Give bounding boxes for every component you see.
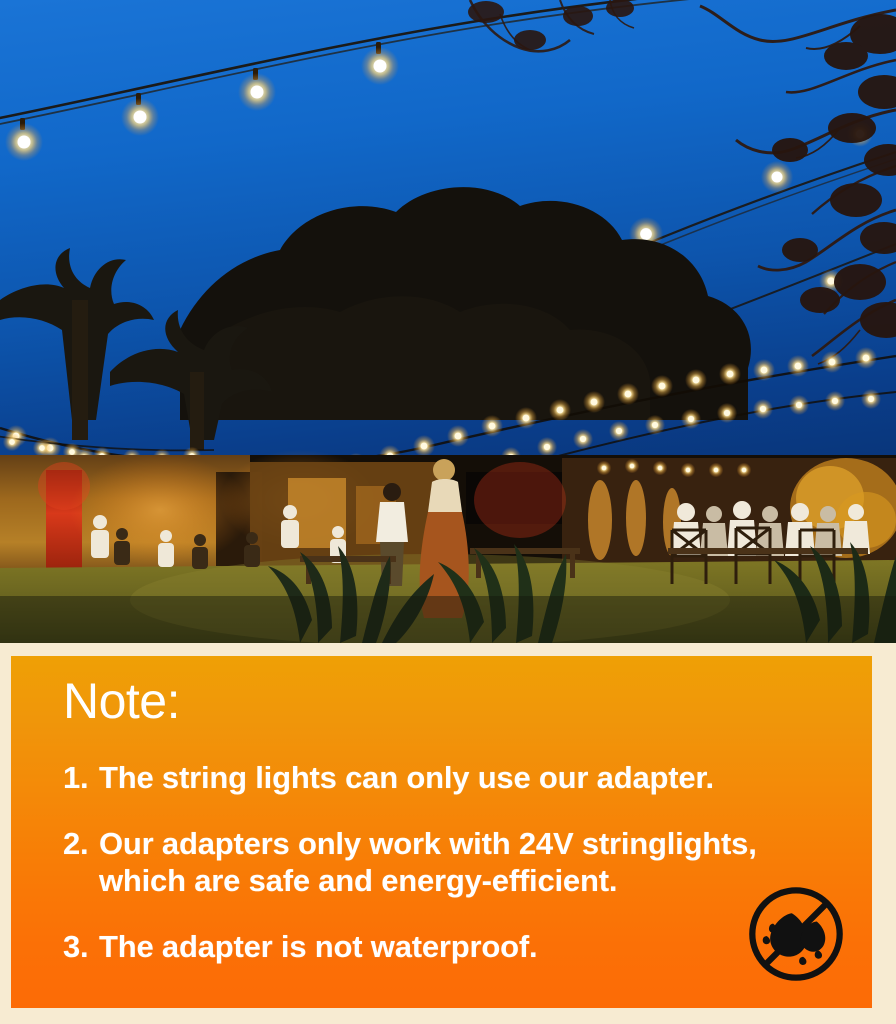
photo-bottom-shade	[0, 596, 896, 643]
note-panel: Note: 1. The string lights can only use …	[11, 656, 872, 1008]
note-item-3-number: 3.	[63, 929, 99, 965]
no-water-icon-glyph	[744, 882, 848, 986]
note-item-3-text: The adapter is not waterproof.	[99, 929, 833, 965]
hero-photo	[0, 0, 896, 643]
note-item-2: 2. Our adapters only work with 24V strin…	[63, 826, 833, 899]
note-item-2-text: Our adapters only work with 24V stringli…	[99, 826, 833, 899]
no-water-icon	[744, 882, 848, 986]
note-item-2-number: 2.	[63, 826, 99, 862]
note-item-3: 3. The adapter is not waterproof.	[63, 929, 833, 965]
note-list: 1. The string lights can only use our ad…	[63, 760, 833, 965]
hero-photo-illustration	[0, 0, 896, 643]
note-title: Note:	[63, 676, 180, 726]
product-info-page: Note: 1. The string lights can only use …	[0, 0, 896, 1024]
note-item-1: 1. The string lights can only use our ad…	[63, 760, 833, 796]
note-item-1-text: The string lights can only use our adapt…	[99, 760, 833, 796]
note-item-1-number: 1.	[63, 760, 99, 796]
